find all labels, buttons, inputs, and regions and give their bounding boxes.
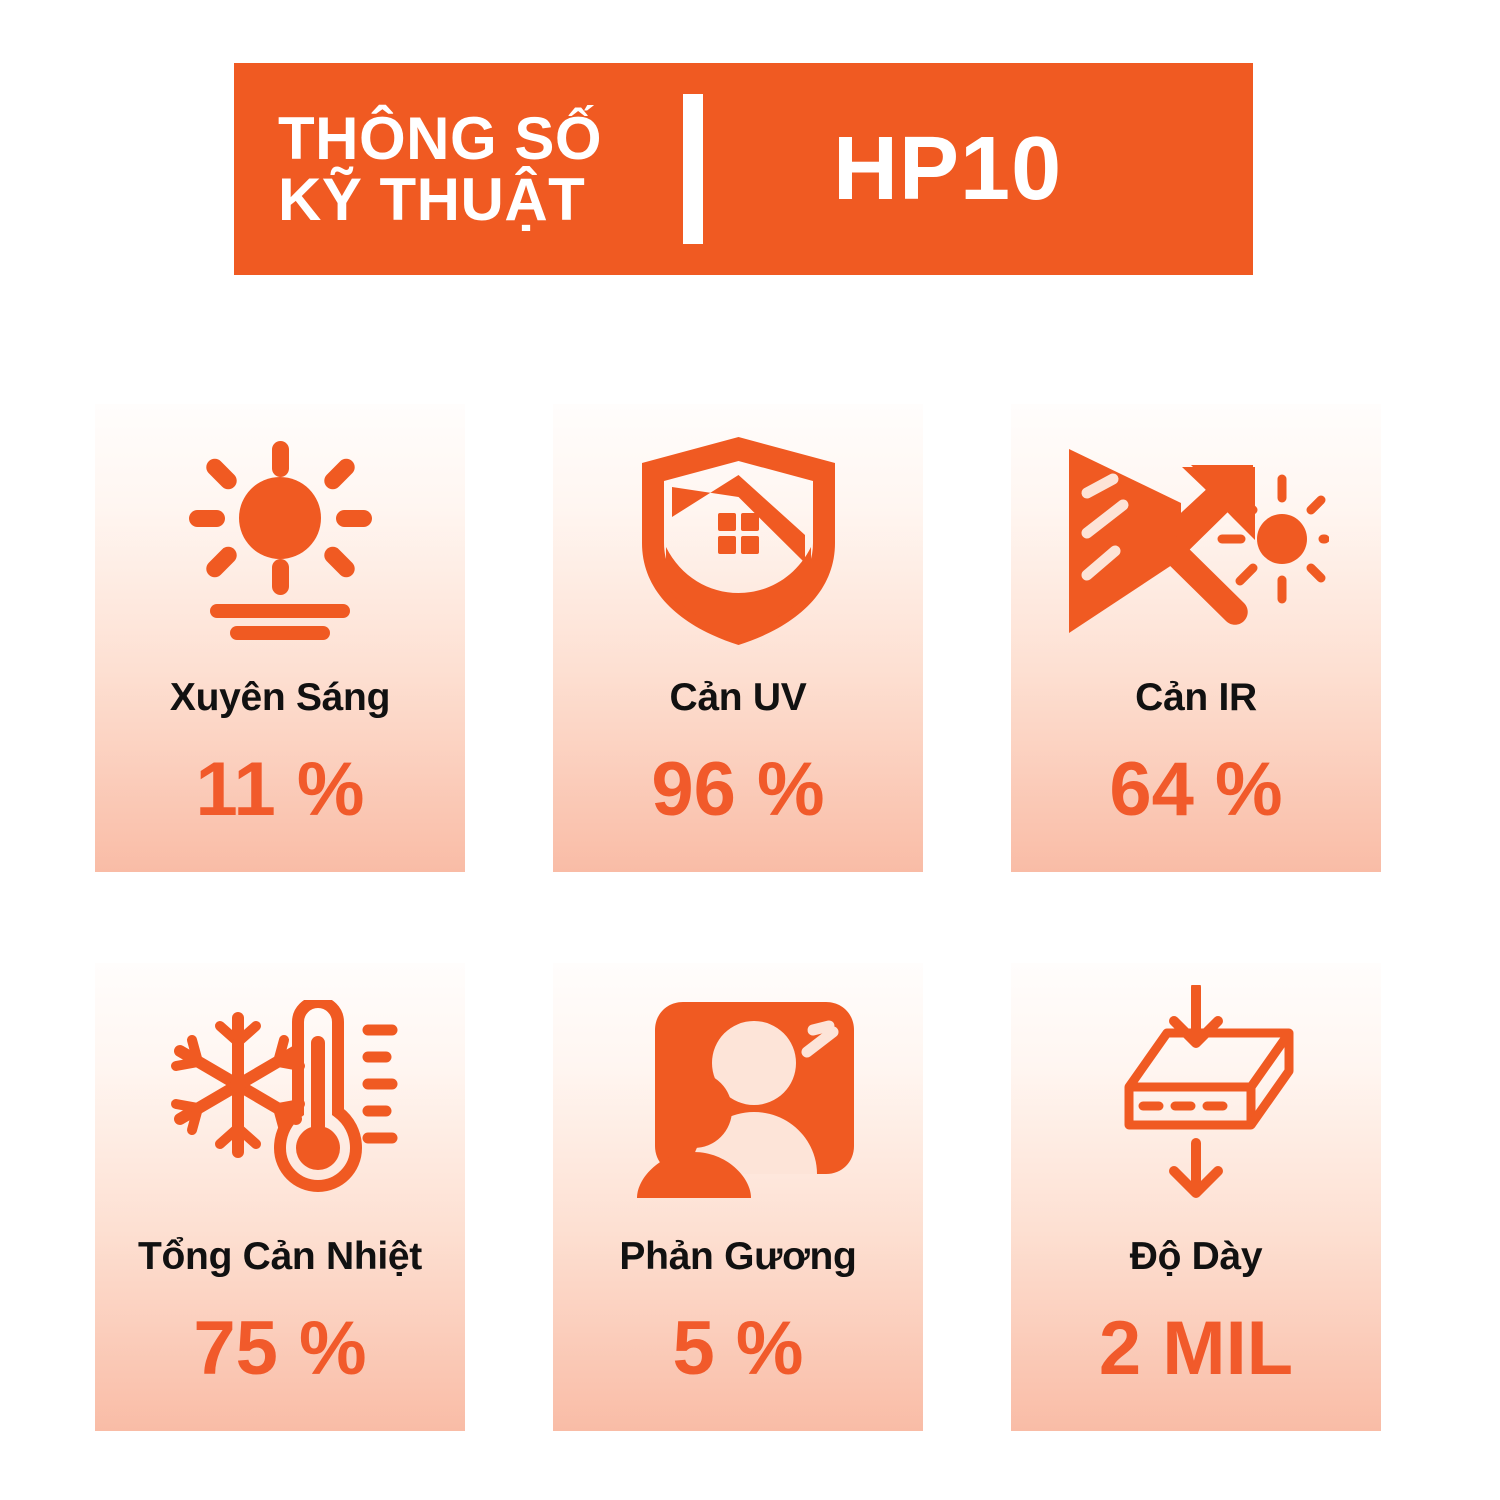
spec-value: 11 % [95,752,465,828]
spec-card-phan-guong: Phản Gương 5 % [553,963,923,1431]
spec-card-can-uv: Cản UV 96 % [553,404,923,872]
header-divider [683,94,703,244]
page-title: THÔNG SỐ KỸ THUẬT [278,108,678,230]
snowflake-thermometer-icon [160,985,400,1215]
spec-value: 96 % [553,752,923,828]
spec-card-tong-can-nhiet: Tổng Cản Nhiệt 75 % [95,963,465,1431]
product-model-label: HP10 [833,124,1062,214]
spec-label: Độ Dày [1130,1237,1263,1276]
shield-house-uv-icon [636,426,841,656]
thickness-slab-arrows-icon [1071,985,1321,1215]
sun-transmission-icon [180,426,380,656]
infrared-reflect-sun-icon [1063,426,1329,656]
spec-card-do-day: Độ Dày 2 MIL [1011,963,1381,1431]
spec-label: Cản IR [1135,678,1257,717]
spec-value: 5 % [553,1311,923,1387]
spec-value: 2 MIL [1011,1311,1381,1387]
spec-label: Tổng Cản Nhiệt [138,1237,422,1276]
spec-card-can-ir: Cản IR 64 % [1011,404,1381,872]
spec-card-grid: Xuyên Sáng 11 % Cản UV 96 % [95,404,1410,1431]
spec-card-xuyen-sang: Xuyên Sáng 11 % [95,404,465,872]
spec-label: Cản UV [670,678,807,717]
spec-label: Phản Gương [619,1237,856,1276]
spec-value: 75 % [95,1311,465,1387]
spec-value: 64 % [1011,752,1381,828]
mirror-people-icon [621,985,856,1215]
spec-label: Xuyên Sáng [170,678,390,717]
header-banner: THÔNG SỐ KỸ THUẬT HP10 [234,63,1253,275]
